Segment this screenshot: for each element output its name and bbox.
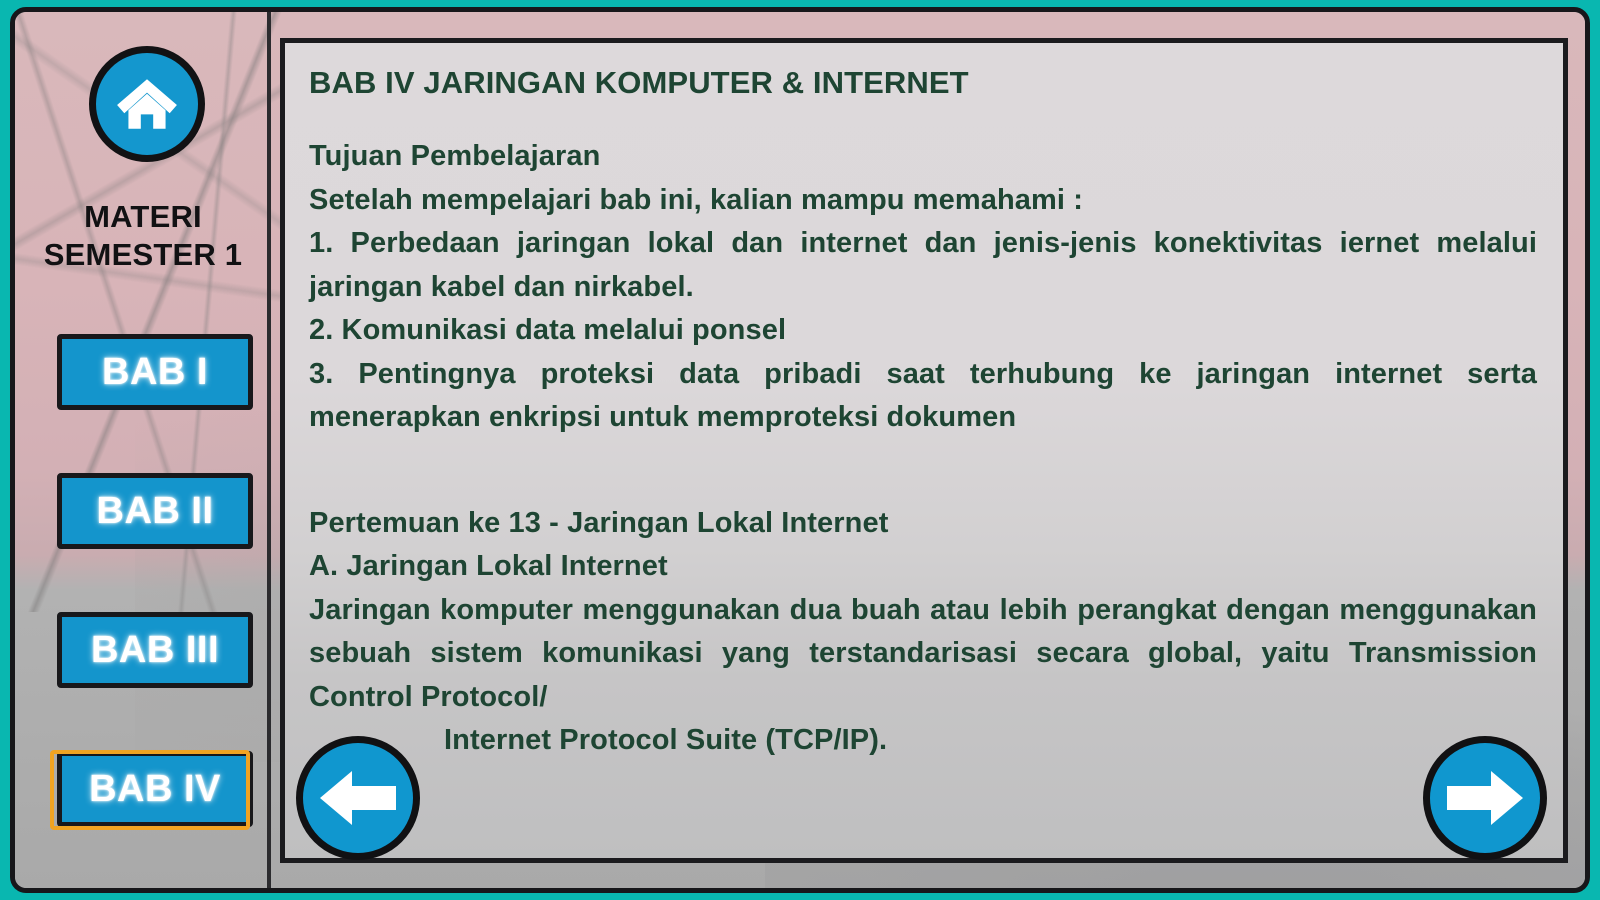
sidebar: MATERI SEMESTER 1 BAB I BAB II BAB III B… bbox=[15, 12, 271, 888]
sidebar-item-bab-4[interactable]: BAB IV bbox=[57, 751, 253, 827]
objective-item-3: 3. Pentingnya proteksi data pribadi saat… bbox=[309, 353, 1537, 440]
lesson-paragraph: Jaringan komputer menggunakan dua buah a… bbox=[309, 589, 1537, 720]
home-icon bbox=[114, 71, 180, 137]
next-page-button[interactable] bbox=[1423, 736, 1547, 860]
meeting-heading: Pertemuan ke 13 - Jaringan Lokal Interne… bbox=[309, 502, 1537, 546]
arrow-left-icon bbox=[316, 767, 400, 829]
lesson-paragraph-tail: Internet Protocol Suite (TCP/IP). bbox=[309, 719, 1537, 763]
previous-page-button[interactable] bbox=[296, 736, 420, 860]
sidebar-item-bab-3[interactable]: BAB III bbox=[57, 612, 253, 688]
objectives-heading: Tujuan Pembelajaran bbox=[309, 135, 1537, 179]
objectives-intro: Setelah mempelajari bab ini, kalian mamp… bbox=[309, 179, 1537, 223]
objective-item-2: 2. Komunikasi data melalui ponsel bbox=[309, 309, 1537, 353]
section-spacer bbox=[309, 440, 1537, 502]
page-title: BAB IV JARINGAN KOMPUTER & INTERNET bbox=[309, 65, 1537, 101]
arrow-right-icon bbox=[1443, 767, 1527, 829]
section-heading: A. Jaringan Lokal Internet bbox=[309, 545, 1537, 589]
chapter-list: BAB I BAB II BAB III BAB IV bbox=[15, 334, 271, 890]
objective-item-1: 1. Perbedaan jaringan lokal dan internet… bbox=[309, 222, 1537, 309]
screen: MATERI SEMESTER 1 BAB I BAB II BAB III B… bbox=[0, 0, 1600, 900]
app-card: MATERI SEMESTER 1 BAB I BAB II BAB III B… bbox=[10, 7, 1590, 893]
lesson-body: Tujuan Pembelajaran Setelah mempelajari … bbox=[309, 135, 1537, 763]
content-panel: BAB IV JARINGAN KOMPUTER & INTERNET Tuju… bbox=[280, 38, 1568, 863]
sidebar-item-bab-1[interactable]: BAB I bbox=[57, 334, 253, 410]
home-button[interactable] bbox=[89, 46, 205, 162]
sidebar-item-bab-2[interactable]: BAB II bbox=[57, 473, 253, 549]
sidebar-heading: MATERI SEMESTER 1 bbox=[15, 198, 271, 274]
